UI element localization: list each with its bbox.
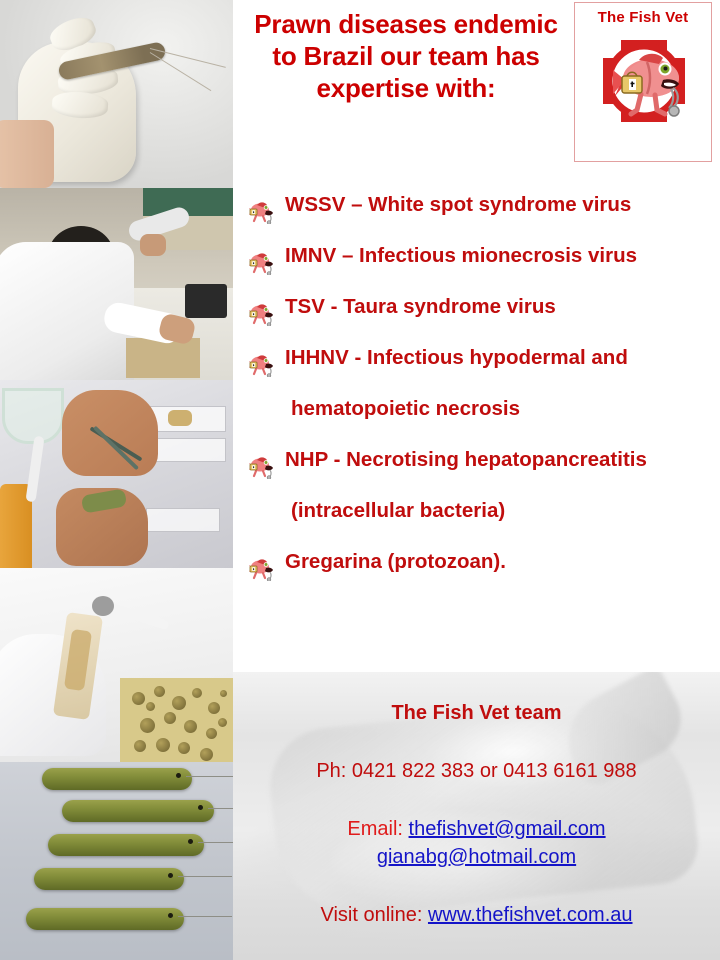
prawn-specimen — [48, 834, 204, 856]
spore-cell — [206, 728, 217, 739]
prawn-eye — [198, 805, 203, 810]
lab-instrument — [185, 284, 227, 318]
microscope-slide — [148, 438, 226, 462]
disease-list-item: NHP - Necrotising hepatopancreatitis — [239, 447, 720, 498]
disease-label: TSV - Taura syndrome virus — [285, 294, 720, 320]
email-line-1: Email: thefishvet@gmail.com — [233, 818, 720, 841]
poster-header: Prawn diseases endemic to Brazil our tea… — [233, 0, 720, 176]
logo-brand-text: The Fish Vet — [575, 9, 711, 26]
spore-cell — [146, 702, 155, 711]
forceps-dissection-hepatopancreas-photo — [0, 380, 233, 568]
spore-cell — [220, 690, 227, 697]
microscope-slide — [146, 508, 220, 532]
lab-technician-processing-samples-photo — [0, 188, 233, 380]
spore-cell — [208, 702, 220, 714]
prawn-disease-poster: Prawn diseases endemic to Brazil our tea… — [0, 0, 720, 960]
spore-cell — [134, 740, 146, 752]
fish-doctor-red-cross-logo-icon — [575, 26, 713, 154]
prawn-eye — [176, 773, 181, 778]
disease-label: WSSV – White spot syndrome virus — [285, 192, 720, 218]
phone-numbers: Ph: 0421 822 383 or 0413 6161 988 — [233, 760, 720, 783]
disease-label: IMNV – Infectious mionecrosis virus — [285, 243, 720, 269]
disease-list-item: IHHNV - Infectious hypodermal and — [239, 345, 720, 396]
fish-doctor-bullet-icon — [245, 300, 275, 326]
tissue-smear — [168, 410, 192, 426]
fish-doctor-bullet-icon — [245, 198, 275, 224]
spore-cell — [154, 686, 165, 697]
swab-tip — [92, 596, 114, 616]
prawn-specimen — [34, 868, 184, 890]
fish-doctor-bullet-icon — [245, 351, 275, 377]
spore-cell — [172, 696, 186, 710]
spore-cell — [184, 720, 197, 733]
disease-label: NHP - Necrotising hepatopancreatitis — [285, 447, 720, 473]
spore-cell — [140, 718, 155, 733]
disease-list-item: IMNV – Infectious mionecrosis virus — [239, 243, 720, 294]
five-juvenile-prawns-photo — [0, 762, 233, 960]
glass-beaker — [2, 388, 64, 444]
cutting-board — [126, 338, 200, 378]
disease-list-item-continuation: hematopoietic necrosis — [239, 396, 720, 447]
email-link-secondary[interactable]: gianabg@hotmail.com — [377, 846, 576, 868]
fish-doctor-bullet-icon — [245, 555, 275, 581]
fish-vet-logo-box: The Fish Vet — [574, 2, 712, 162]
email-line-2: gianabg@hotmail.com — [233, 846, 720, 869]
email-label: Email: — [347, 818, 403, 840]
fish-doctor-bullet-icon — [245, 453, 275, 479]
prawn-specimen — [42, 768, 192, 790]
photo-background — [0, 762, 233, 960]
spore-cell — [156, 738, 170, 752]
spore-cell — [218, 718, 227, 727]
disease-label-continued: (intracellular bacteria) — [291, 498, 720, 524]
gloved-hand-holding-prawn-photo — [0, 0, 233, 188]
spore-cell — [192, 688, 202, 698]
contact-footer: The Fish Vet team Ph: 0421 822 383 or 04… — [233, 672, 720, 960]
disease-list-item: TSV - Taura syndrome virus — [239, 294, 720, 345]
photo-column — [0, 0, 233, 960]
prawn-eye — [188, 839, 193, 844]
spore-cell — [200, 748, 213, 761]
spore-cell — [132, 692, 145, 705]
content-panel: Prawn diseases endemic to Brazil our tea… — [233, 0, 720, 960]
page-title: Prawn diseases endemic to Brazil our tea… — [241, 8, 571, 104]
disease-list: WSSV – White spot syndrome virus IMNV – … — [239, 192, 720, 600]
fish-doctor-bullet-icon — [245, 249, 275, 275]
specimen-swab-with-microscopy-inset-photo — [0, 568, 233, 762]
prawn-eye — [168, 913, 173, 918]
team-name: The Fish Vet team — [233, 702, 720, 725]
second-person-hand — [140, 234, 166, 256]
disease-label: Gregarina (protozoan). — [285, 549, 720, 575]
disease-list-item-continuation: (intracellular bacteria) — [239, 498, 720, 549]
spore-cell — [164, 712, 176, 724]
email-link-primary[interactable]: thefishvet@gmail.com — [409, 818, 606, 840]
disease-list-item: Gregarina (protozoan). — [239, 549, 720, 600]
prawn-eye — [168, 873, 173, 878]
prawn-specimen — [62, 800, 214, 822]
spore-cell — [178, 742, 190, 754]
dissecting-hand — [62, 390, 158, 476]
website-line: Visit online: www.thefishvet.com.au — [233, 904, 720, 927]
forearm — [0, 120, 54, 188]
microscopy-inset — [120, 678, 233, 762]
disease-label-continued: hematopoietic necrosis — [291, 396, 720, 422]
website-link[interactable]: www.thefishvet.com.au — [428, 904, 633, 926]
visit-label: Visit online: — [320, 904, 422, 926]
disease-list-item: WSSV – White spot syndrome virus — [239, 192, 720, 243]
prawn-specimen — [26, 908, 184, 930]
disease-label: IHHNV - Infectious hypodermal and — [285, 345, 720, 371]
